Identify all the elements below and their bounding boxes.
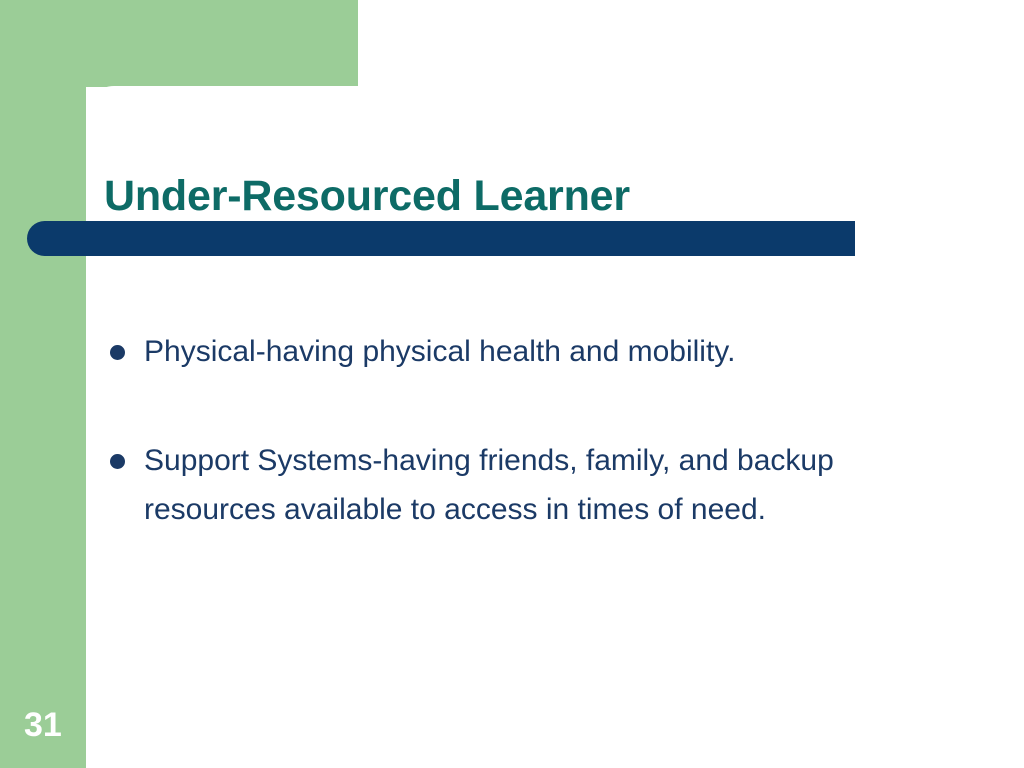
list-item-text: Support Systems-having friends, family, … <box>144 436 934 534</box>
list-item: Physical-having physical health and mobi… <box>104 327 964 376</box>
bullet-list: Physical-having physical health and mobi… <box>104 327 964 534</box>
list-item-text: Physical-having physical health and mobi… <box>144 327 964 376</box>
title-divider-bar <box>27 221 855 256</box>
green-sidebar-decoration <box>0 0 86 768</box>
bullet-point-icon <box>110 345 125 360</box>
page-number: 31 <box>24 705 62 745</box>
bullet-point-icon <box>110 454 125 469</box>
slide-canvas: Under-Resourced Learner Physical-having … <box>0 0 1024 768</box>
list-item: Support Systems-having friends, family, … <box>104 436 964 534</box>
green-top-block-decoration <box>0 0 358 87</box>
page-title: Under-Resourced Learner <box>104 169 964 223</box>
